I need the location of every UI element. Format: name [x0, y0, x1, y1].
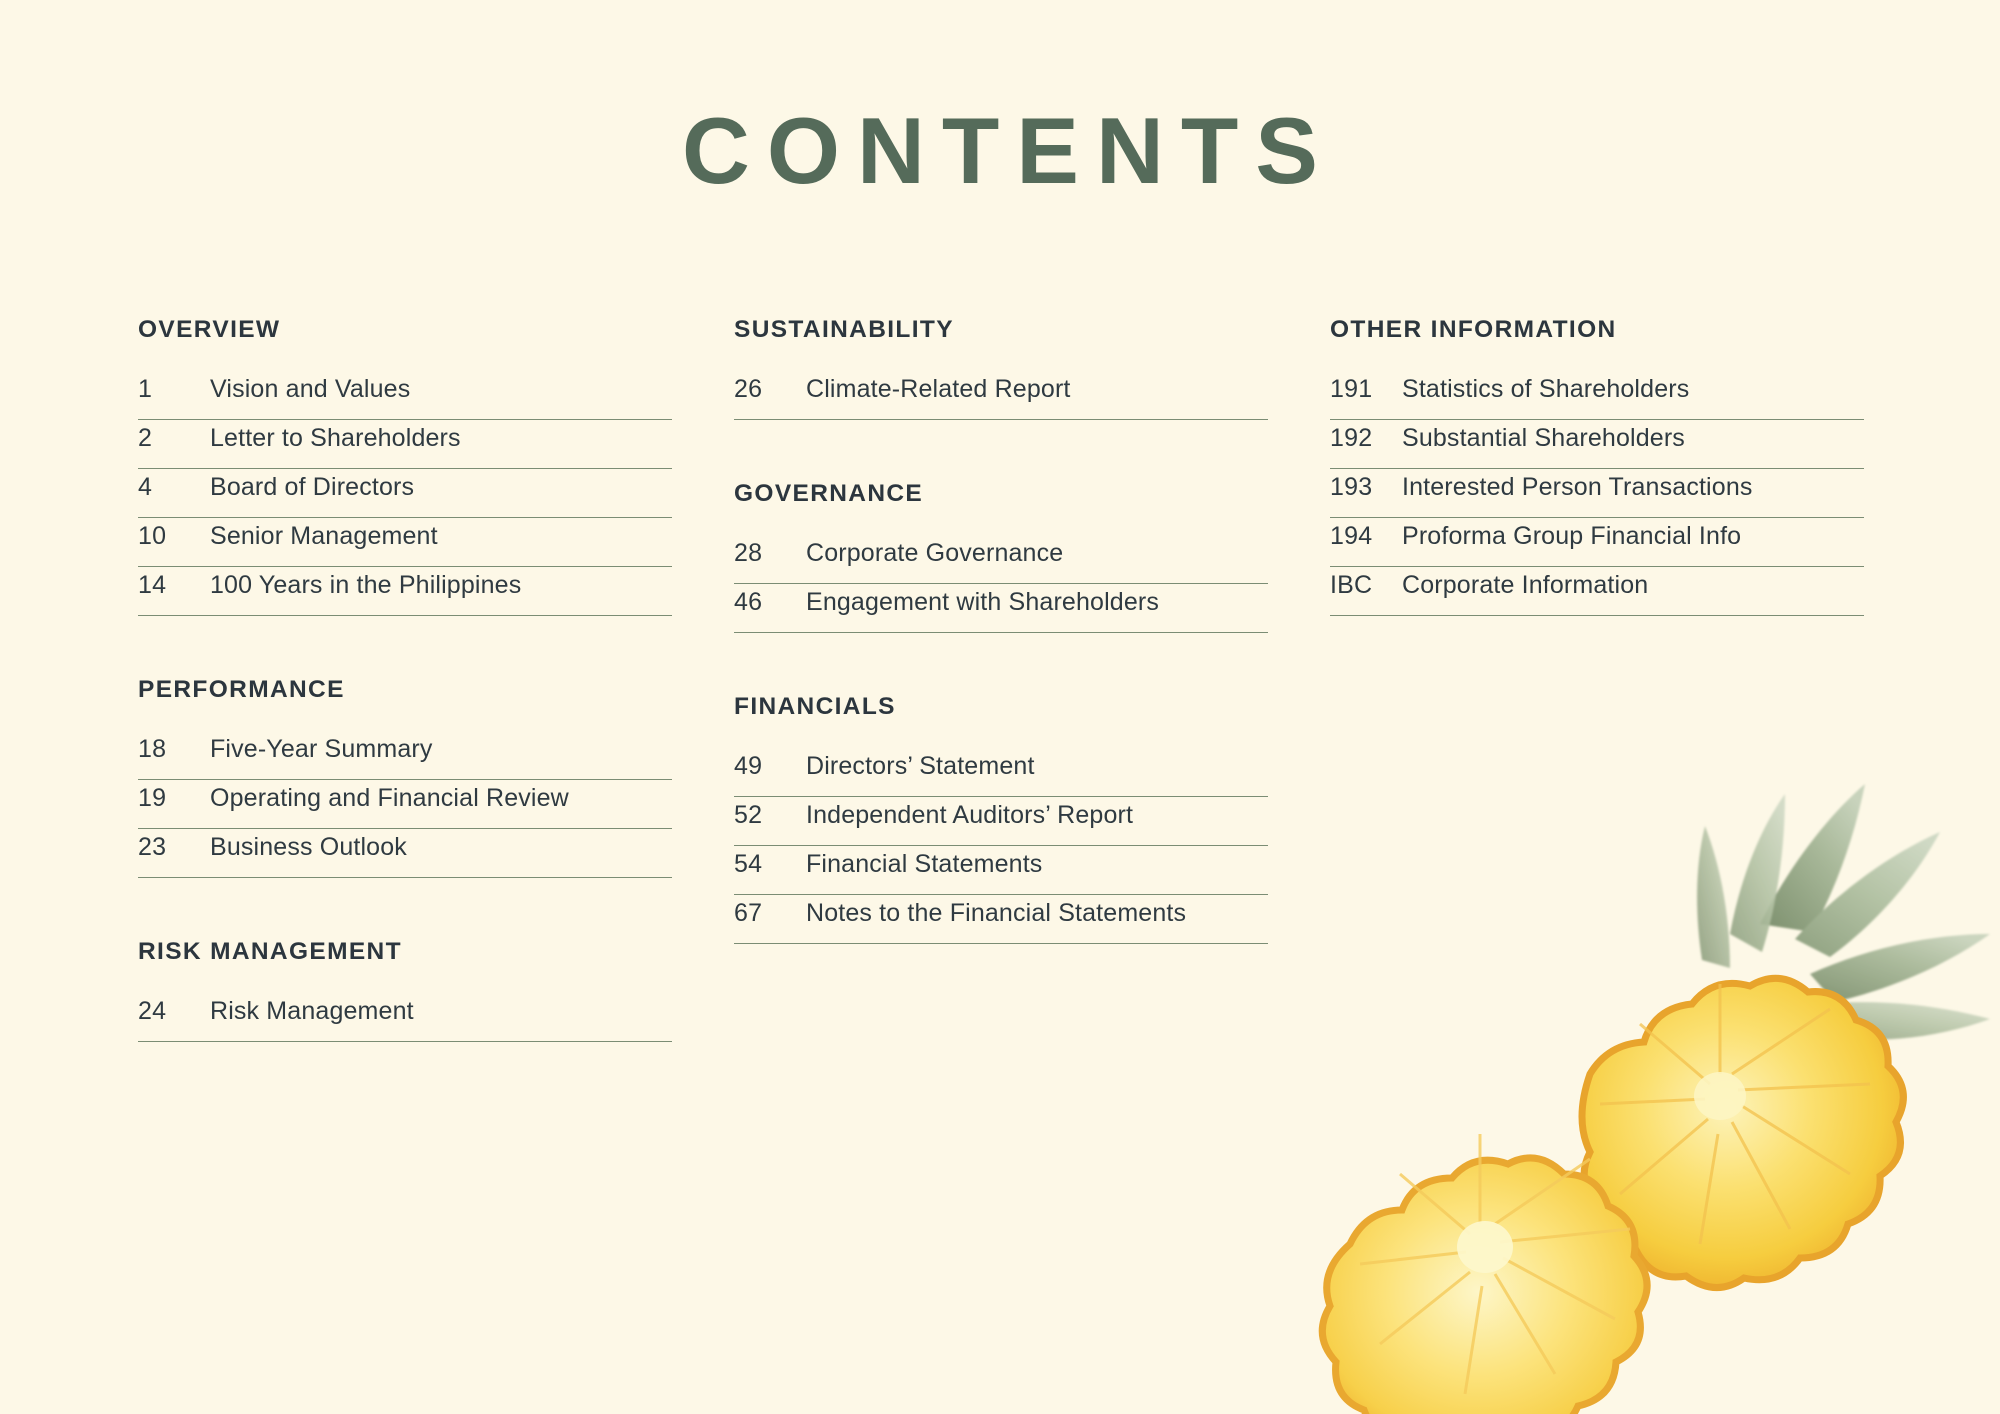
- toc-entry[interactable]: 191Statistics of Shareholders: [1330, 371, 1864, 420]
- toc-column: OTHER INFORMATION191Statistics of Shareh…: [1330, 316, 1864, 1042]
- toc-entry-page-number: 46: [734, 588, 806, 617]
- section-heading: OTHER INFORMATION: [1330, 316, 1864, 344]
- toc-section: GOVERNANCE28Corporate Governance46Engage…: [734, 480, 1268, 633]
- toc-entry-page-number: 52: [734, 801, 806, 830]
- toc-entry-label: Vision and Values: [210, 375, 410, 404]
- toc-entry-page-number: 1: [138, 375, 210, 404]
- toc-entry-label: Risk Management: [210, 997, 414, 1026]
- toc-entry[interactable]: 193Interested Person Transactions: [1330, 469, 1864, 518]
- toc-section: OVERVIEW1Vision and Values2Letter to Sha…: [138, 316, 672, 616]
- toc-entry-label: Senior Management: [210, 522, 438, 551]
- toc-entry-page-number: 192: [1330, 424, 1402, 453]
- toc-entry-label: Substantial Shareholders: [1402, 424, 1685, 453]
- toc-entry[interactable]: 18Five-Year Summary: [138, 731, 672, 780]
- toc-column: OVERVIEW1Vision and Values2Letter to Sha…: [138, 316, 672, 1042]
- toc-entry[interactable]: 194Proforma Group Financial Info: [1330, 518, 1864, 567]
- toc-entry[interactable]: 28Corporate Governance: [734, 535, 1268, 584]
- toc-entry-page-number: IBC: [1330, 571, 1402, 600]
- toc-entry-page-number: 49: [734, 752, 806, 781]
- toc-entry-label: Corporate Governance: [806, 539, 1063, 568]
- toc-entry-page-number: 26: [734, 375, 806, 404]
- toc-entry-label: Directors’ Statement: [806, 752, 1035, 781]
- toc-entry-page-number: 18: [138, 735, 210, 764]
- toc-entry[interactable]: 19Operating and Financial Review: [138, 780, 672, 829]
- toc-entry-label: Interested Person Transactions: [1402, 473, 1753, 502]
- toc-entry-page-number: 14: [138, 571, 210, 600]
- toc-entry[interactable]: 14100 Years in the Philippines: [138, 567, 672, 616]
- page-title: CONTENTS: [0, 104, 2000, 198]
- toc-entry-label: Operating and Financial Review: [210, 784, 569, 813]
- toc-entry-page-number: 28: [734, 539, 806, 568]
- toc-page: CONTENTS OVERVIEW1Vision and Values2Lett…: [0, 0, 2000, 1414]
- toc-entry[interactable]: 1Vision and Values: [138, 371, 672, 420]
- toc-entry[interactable]: 54Financial Statements: [734, 846, 1268, 895]
- toc-section: FINANCIALS49Directors’ Statement52Indepe…: [734, 693, 1268, 944]
- toc-entry[interactable]: 23Business Outlook: [138, 829, 672, 878]
- toc-columns: OVERVIEW1Vision and Values2Letter to Sha…: [138, 316, 1864, 1042]
- toc-entry-label: Financial Statements: [806, 850, 1042, 879]
- toc-section: OTHER INFORMATION191Statistics of Shareh…: [1330, 316, 1864, 616]
- toc-entry[interactable]: 192Substantial Shareholders: [1330, 420, 1864, 469]
- toc-entry-label: Engagement with Shareholders: [806, 588, 1159, 617]
- toc-entry[interactable]: 46Engagement with Shareholders: [734, 584, 1268, 633]
- toc-section: RISK MANAGEMENT24Risk Management: [138, 938, 672, 1042]
- toc-entry-label: Corporate Information: [1402, 571, 1648, 600]
- toc-entry-label: Statistics of Shareholders: [1402, 375, 1689, 404]
- toc-entry-label: Notes to the Financial Statements: [806, 899, 1186, 928]
- toc-entry[interactable]: IBCCorporate Information: [1330, 567, 1864, 616]
- toc-entry-page-number: 194: [1330, 522, 1402, 551]
- toc-section: PERFORMANCE18Five-Year Summary19Operatin…: [138, 676, 672, 878]
- toc-entry-label: 100 Years in the Philippines: [210, 571, 521, 600]
- toc-entry-label: Business Outlook: [210, 833, 407, 862]
- toc-entry[interactable]: 52Independent Auditors’ Report: [734, 797, 1268, 846]
- toc-entry-page-number: 67: [734, 899, 806, 928]
- toc-entry[interactable]: 2Letter to Shareholders: [138, 420, 672, 469]
- toc-entry[interactable]: 26Climate-Related Report: [734, 371, 1268, 420]
- toc-entry-label: Proforma Group Financial Info: [1402, 522, 1741, 551]
- section-heading: PERFORMANCE: [138, 676, 672, 704]
- section-heading: SUSTAINABILITY: [734, 316, 1268, 344]
- toc-entry-page-number: 24: [138, 997, 210, 1026]
- toc-entry-label: Independent Auditors’ Report: [806, 801, 1133, 830]
- toc-entry-label: Board of Directors: [210, 473, 414, 502]
- section-heading: RISK MANAGEMENT: [138, 938, 672, 966]
- toc-entry[interactable]: 49Directors’ Statement: [734, 748, 1268, 797]
- toc-entry[interactable]: 67Notes to the Financial Statements: [734, 895, 1268, 944]
- toc-entry-label: Climate-Related Report: [806, 375, 1071, 404]
- toc-section: SUSTAINABILITY26Climate-Related Report: [734, 316, 1268, 420]
- section-heading: OVERVIEW: [138, 316, 672, 344]
- toc-entry-page-number: 193: [1330, 473, 1402, 502]
- toc-entry-page-number: 4: [138, 473, 210, 502]
- section-heading: GOVERNANCE: [734, 480, 1268, 508]
- toc-entry-page-number: 23: [138, 833, 210, 862]
- toc-column: SUSTAINABILITY26Climate-Related ReportGO…: [734, 316, 1268, 1042]
- toc-entry[interactable]: 4Board of Directors: [138, 469, 672, 518]
- toc-entry-page-number: 54: [734, 850, 806, 879]
- toc-entry-page-number: 19: [138, 784, 210, 813]
- toc-entry-label: Letter to Shareholders: [210, 424, 461, 453]
- toc-entry[interactable]: 24Risk Management: [138, 993, 672, 1042]
- toc-entry-page-number: 2: [138, 424, 210, 453]
- toc-entry-label: Five-Year Summary: [210, 735, 433, 764]
- section-heading: FINANCIALS: [734, 693, 1268, 721]
- toc-entry-page-number: 10: [138, 522, 210, 551]
- toc-entry-page-number: 191: [1330, 375, 1402, 404]
- toc-entry[interactable]: 10Senior Management: [138, 518, 672, 567]
